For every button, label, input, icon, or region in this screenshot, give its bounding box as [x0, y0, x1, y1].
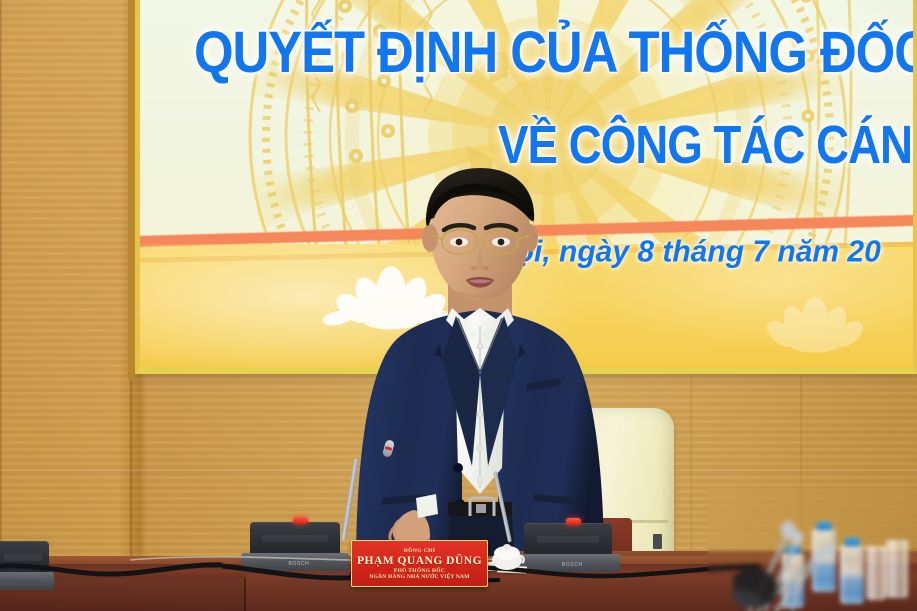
mic-status-led: [566, 518, 581, 525]
wall-seam: [0, 0, 2, 611]
mic-status-led: [293, 517, 308, 524]
nameplate-person-name: PHẠM QUANG DŨNG: [357, 555, 482, 567]
nameplate: ĐỒNG CHÍ PHẠM QUANG DŨNG PHÓ THỐNG ĐỐC N…: [351, 540, 488, 587]
nameplate-title-line: ĐỒNG CHÍ: [404, 548, 435, 554]
drinking-glass[interactable]: [886, 540, 908, 598]
chair-tag: [653, 534, 662, 549]
lotus-flower-icon: [755, 286, 875, 358]
teapot-icon: [488, 536, 526, 570]
speaker-person: [330, 168, 630, 578]
wall-seam: [130, 0, 133, 611]
nameplate-organization: NGÂN HÀNG NHÀ NƯỚC VIỆT NAM: [369, 574, 469, 580]
banner-headline-line1: QUYẾT ĐỊNH CỦA THỐNG ĐỐC NGÂN H: [194, 23, 917, 84]
microphone-stand-cluster[interactable]: [730, 500, 870, 611]
photograph-canvas: QUYẾT ĐỊNH CỦA THỐNG ĐỐC NGÂN H VỀ CÔNG …: [0, 0, 917, 611]
banner-headline-line2: VỀ CÔNG TÁC CÁN BỘ: [498, 118, 917, 174]
